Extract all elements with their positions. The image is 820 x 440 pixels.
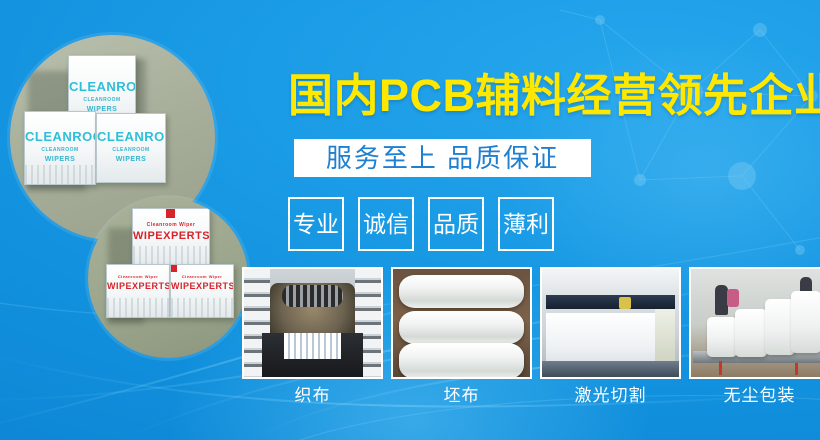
process-cell-greige-fabric: 坯布 (391, 267, 532, 404)
feature-tag-integrity: 诚信 (358, 197, 414, 251)
feature-tag-professional: 专业 (288, 197, 344, 251)
feature-tag-low-margin: 薄利 (498, 197, 554, 251)
banner-subtitle-bar: 服务至上 品质保证 (294, 139, 591, 177)
process-photo-cleanroom-packing (689, 267, 820, 379)
process-caption: 激光切割 (540, 387, 681, 404)
pack-sub-label-1: CLEANROOM (25, 148, 95, 153)
banner-subtitle-text: 服务至上 品质保证 (326, 145, 559, 171)
pack-brand-label: WIPEXPERTS (171, 282, 233, 291)
process-photo-laser-cutting (540, 267, 681, 379)
pack-brand-label: CLEANROOM (25, 130, 95, 143)
feature-tag-label: 专业 (293, 213, 339, 236)
process-caption: 织布 (242, 387, 383, 404)
process-caption: 坯布 (391, 387, 532, 404)
process-caption: 无尘包装 (689, 387, 820, 404)
process-photo-strip: 织布 坯布 激光切割 (242, 267, 820, 404)
pack-sub-label-1: Cleanroom Wiper (133, 223, 209, 228)
pack-brand-label: CLEANROOM (69, 80, 135, 93)
banner-headline: 国内PCB辅料经营领先企业 (288, 73, 820, 118)
process-photo-weaving (242, 267, 383, 379)
pack-sub-label-1: CLEANROOM (69, 98, 135, 103)
pack-sub-label-1: Cleanroom Wiper (107, 275, 169, 279)
pack-sub-label-1: Cleanroom Wiper (171, 275, 233, 279)
pack-brand-label: CLEANROOM (97, 130, 165, 143)
feature-tag-label: 诚信 (363, 213, 409, 236)
pack-brand-label: WIPEXPERTS (133, 231, 209, 242)
pack-brand-label: WIPEXPERTS (107, 282, 169, 291)
process-cell-laser-cutting: 激光切割 (540, 267, 681, 404)
pack-sub-label-1: CLEANROOM (97, 148, 165, 153)
process-photo-greige-fabric (391, 267, 532, 379)
feature-tag-quality: 品质 (428, 197, 484, 251)
process-cell-cleanroom-packing: 无尘包装 (689, 267, 820, 404)
feature-tag-label: 薄利 (503, 213, 549, 236)
product-photo-wipexperts: Cleanroom Wiper WIPEXPERTS Cleanroom Wip… (88, 198, 248, 358)
feature-tag-label: 品质 (433, 213, 479, 236)
pack-sub-label-2: WIPERS (25, 156, 95, 163)
pack-sub-label-2: WIPERS (97, 156, 165, 163)
feature-tag-list: 专业 诚信 品质 薄利 (288, 197, 554, 251)
process-cell-weaving: 织布 (242, 267, 383, 404)
promo-banner: CLEANROOM CLEANROOM WIPERS CLEANROOM CLE… (0, 0, 820, 440)
